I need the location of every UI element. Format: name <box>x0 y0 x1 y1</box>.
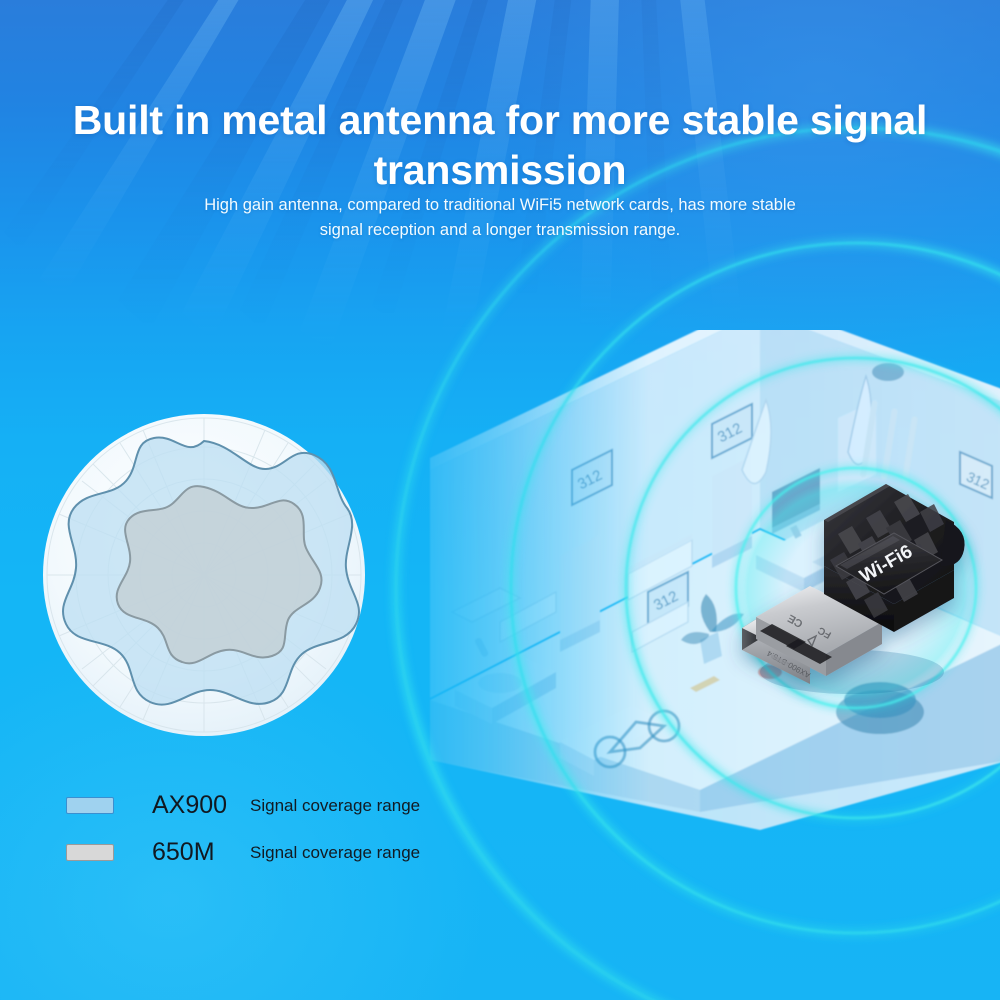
promo-banner: 312 312 312 312 <box>0 0 1000 1000</box>
legend-key-ax900: AX900 <box>152 793 250 818</box>
legend-desc-650m: Signal coverage range <box>250 844 420 861</box>
legend-swatch-ax900 <box>66 797 114 814</box>
page-subtitle: High gain antenna, compared to tradition… <box>0 193 1000 243</box>
coverage-legend: AX900 Signal coverage range 650M Signal … <box>66 793 420 865</box>
legend-swatch-650m <box>66 844 114 861</box>
page-title: Built in metal antenna for more stable s… <box>0 95 1000 195</box>
legend-item-650m: 650M Signal coverage range <box>66 840 420 865</box>
legend-key-650m: 650M <box>152 840 250 865</box>
legend-item-ax900: AX900 Signal coverage range <box>66 793 420 818</box>
legend-desc-ax900: Signal coverage range <box>250 797 420 814</box>
radiation-pattern-chart <box>43 414 365 736</box>
usb-wifi-adapter: CE FC AX900-BT5.4 <box>738 478 974 702</box>
